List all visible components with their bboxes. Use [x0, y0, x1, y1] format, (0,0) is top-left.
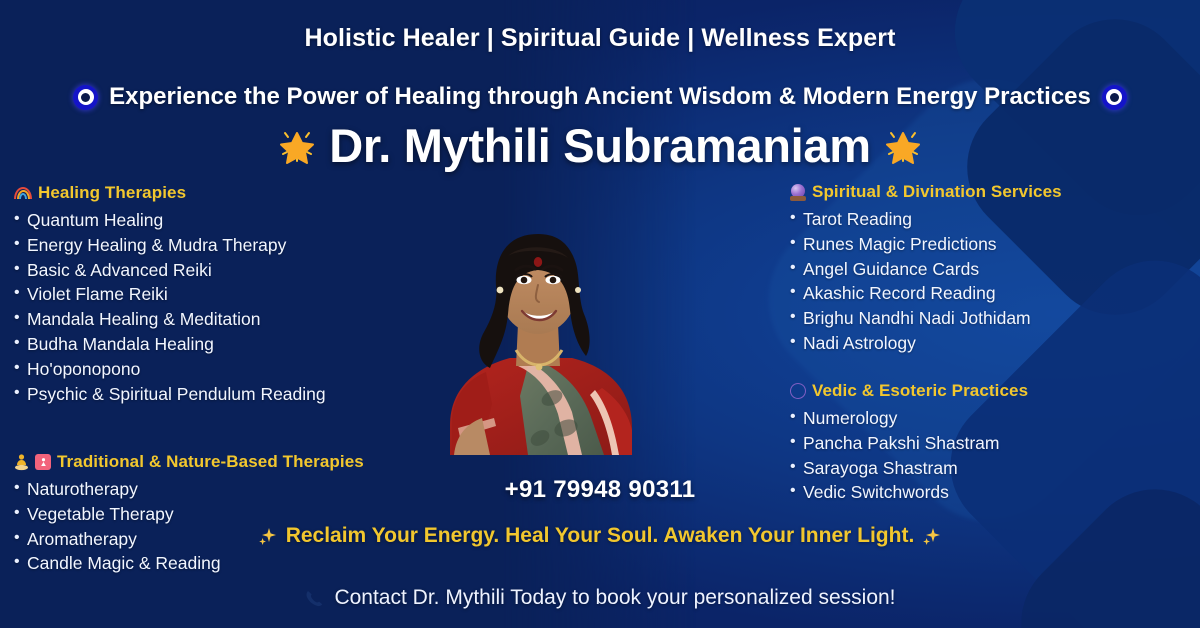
list-item: Akashic Record Reading [790, 281, 1190, 306]
list-item: Ho'oponopono [14, 357, 434, 382]
contact-cta-row: Contact Dr. Mythili Today to book your p… [0, 586, 1200, 610]
list-item: Vegetable Therapy [14, 502, 444, 527]
practitioner-name: Dr. Mythili Subramaniam [329, 118, 871, 173]
section-healing-therapies: Healing Therapies Quantum Healing Energy… [14, 183, 434, 406]
section-title: Traditional & Nature-Based Therapies [57, 452, 364, 472]
reclaim-tagline: Reclaim Your Energy. Heal Your Soul. Awa… [286, 524, 915, 548]
subheading-row: Experience the Power of Healing through … [0, 83, 1200, 111]
purple-circle-icon [788, 381, 808, 401]
list-item: Numerology [790, 406, 1190, 431]
practitioner-name-row: Dr. Mythili Subramaniam [0, 118, 1200, 173]
sparkles-icon-right [922, 526, 942, 546]
womens-room-icon [35, 454, 51, 470]
nazar-amulet-icon-right [1102, 85, 1127, 110]
section-title-row: Vedic & Esoteric Practices [790, 381, 1190, 401]
list-item: Budha Mandala Healing [14, 332, 434, 357]
list-item: Brighu Nandhi Nadi Jothidam [790, 306, 1190, 331]
section-title: Vedic & Esoteric Practices [812, 381, 1028, 401]
section-traditional-nature-based-therapies: Traditional & Nature-Based Therapies Nat… [14, 452, 444, 576]
section-title: Spiritual & Divination Services [812, 182, 1062, 202]
service-list: Tarot Reading Runes Magic Predictions An… [790, 207, 1190, 356]
practitioner-portrait [432, 190, 647, 455]
rainbow-icon [14, 187, 32, 199]
list-item: Tarot Reading [790, 207, 1190, 232]
promotional-poster: Holistic Healer | Spiritual Guide | Well… [0, 0, 1200, 628]
section-title: Healing Therapies [38, 183, 186, 203]
tagline-top: Holistic Healer | Spiritual Guide | Well… [0, 24, 1200, 53]
section-title-row: Healing Therapies [14, 183, 434, 203]
list-item: Psychic & Spiritual Pendulum Reading [14, 382, 434, 407]
list-item: Quantum Healing [14, 208, 434, 233]
section-title-row: Traditional & Nature-Based Therapies [14, 452, 444, 472]
list-item: Mandala Healing & Meditation [14, 307, 434, 332]
glowing-star-icon-right [883, 126, 923, 166]
nazar-amulet-icon-left [73, 85, 98, 110]
crystal-ball-icon [790, 184, 806, 201]
contact-cta-text: Contact Dr. Mythili Today to book your p… [334, 586, 895, 610]
person-in-lotus-position-icon [14, 454, 29, 471]
telephone-receiver-icon [304, 588, 325, 609]
list-item: Violet Flame Reiki [14, 282, 434, 307]
service-list: Quantum Healing Energy Healing & Mudra T… [14, 208, 434, 406]
glowing-star-icon-left [277, 126, 317, 166]
reclaim-tagline-row: Reclaim Your Energy. Heal Your Soul. Awa… [0, 524, 1200, 548]
list-item: Basic & Advanced Reiki [14, 258, 434, 283]
list-item: Runes Magic Predictions [790, 232, 1190, 257]
section-spiritual-divination-services: Spiritual & Divination Services Tarot Re… [790, 182, 1190, 356]
list-item: Angel Guidance Cards [790, 257, 1190, 282]
section-title-row: Spiritual & Divination Services [790, 182, 1190, 202]
poster-header: Holistic Healer | Spiritual Guide | Well… [0, 24, 1200, 173]
subheading-text: Experience the Power of Healing through … [109, 83, 1091, 111]
phone-number[interactable]: +91 79948 90311 [0, 476, 1200, 504]
list-item: Energy Healing & Mudra Therapy [14, 233, 434, 258]
sparkles-icon-left [258, 526, 278, 546]
list-item: Nadi Astrology [790, 331, 1190, 356]
list-item: Candle Magic & Reading [14, 551, 444, 576]
list-item: Pancha Pakshi Shastram [790, 431, 1190, 456]
